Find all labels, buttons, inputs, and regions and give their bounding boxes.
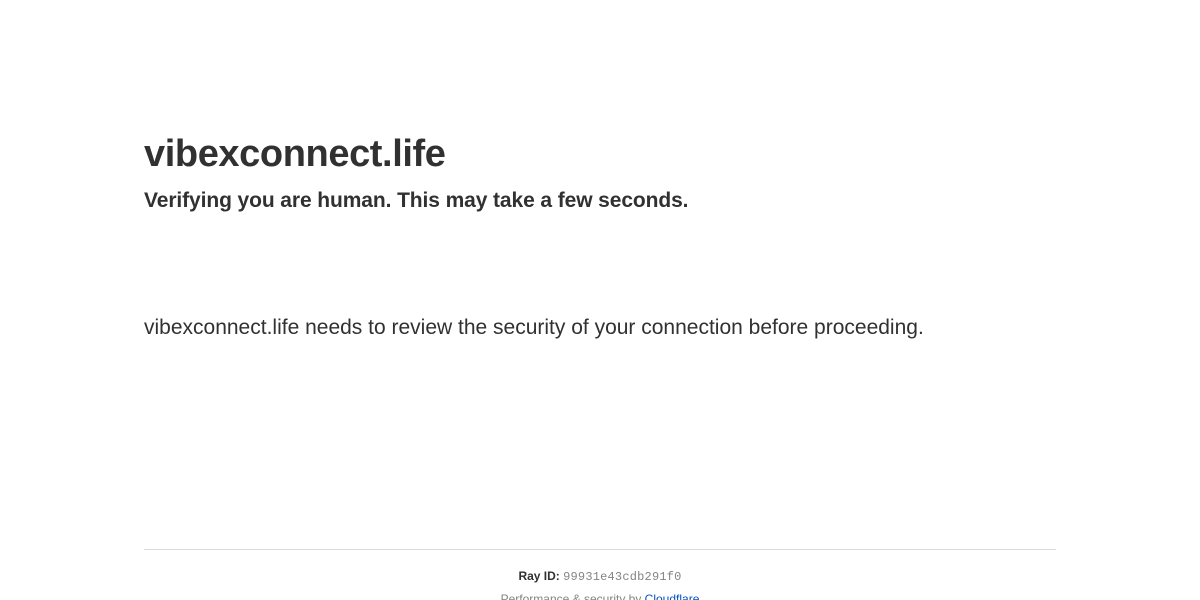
ray-id-value: 99931e43cdb291f0 [563,570,681,584]
page-title: vibexconnect.life [144,0,1056,177]
attribution-line: Performance & security by Cloudflare [144,585,1056,600]
content-column: vibexconnect.life Verifying you are huma… [144,0,1056,600]
challenge-main: vibexconnect.life Verifying you are huma… [144,0,1056,346]
ray-id-label: Ray ID: [518,569,559,583]
ray-id-line: Ray ID: 99931e43cdb291f0 [144,569,1056,585]
cloudflare-link[interactable]: Cloudflare [645,592,700,600]
challenge-page: vibexconnect.life Verifying you are huma… [0,0,1200,600]
footer-content: Ray ID: 99931e43cdb291f0 Performance & s… [144,550,1056,600]
challenge-explanation: vibexconnect.life needs to review the se… [144,310,944,346]
challenge-subtitle: Verifying you are human. This may take a… [144,177,1056,214]
attribution-prefix: Performance & security by [501,592,645,600]
page-footer: Ray ID: 99931e43cdb291f0 Performance & s… [144,549,1056,600]
turnstile-widget-slot[interactable] [144,236,444,310]
